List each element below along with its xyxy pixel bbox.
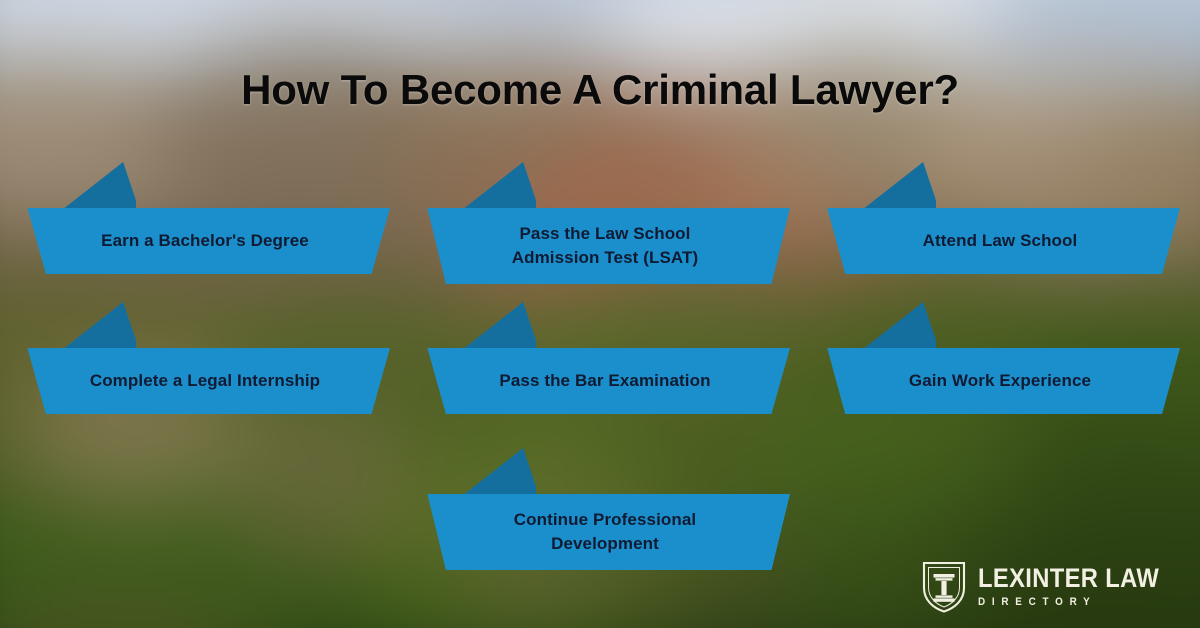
brand-logo[interactable]: LEXINTER LAW DIRECTORY <box>921 558 1184 614</box>
step-banner-2[interactable]: Pass the Law School Admission Test (LSAT… <box>420 162 790 274</box>
step-plate-7: Continue Professional Development <box>420 494 790 570</box>
step-banner-1[interactable]: Earn a Bachelor's Degree <box>20 162 390 274</box>
infographic-poster: How To Become A Criminal Lawyer? Earn a … <box>0 0 1200 628</box>
step-label-6: Gain Work Experience <box>893 369 1107 393</box>
step-plate-2: Pass the Law School Admission Test (LSAT… <box>420 208 790 284</box>
step-banner-6[interactable]: Gain Work Experience <box>820 302 1180 414</box>
step-banner-7[interactable]: Continue Professional Development <box>420 448 790 570</box>
step-plate-1: Earn a Bachelor's Degree <box>20 208 390 274</box>
step-plate-4: Complete a Legal Internship <box>20 348 390 414</box>
step-banner-4[interactable]: Complete a Legal Internship <box>20 302 390 414</box>
step-banner-5[interactable]: Pass the Bar Examination <box>420 302 790 414</box>
step-label-5: Pass the Bar Examination <box>483 369 726 393</box>
step-plate-6: Gain Work Experience <box>820 348 1180 414</box>
step-banner-3[interactable]: Attend Law School <box>820 162 1180 274</box>
step-label-2: Pass the Law School Admission Test (LSAT… <box>496 222 715 270</box>
step-label-4: Complete a Legal Internship <box>74 369 336 393</box>
step-plate-3: Attend Law School <box>820 208 1180 274</box>
step-label-3: Attend Law School <box>907 229 1094 253</box>
step-label-7: Continue Professional Development <box>498 508 713 556</box>
shield-column-icon <box>921 558 967 614</box>
step-plate-5: Pass the Bar Examination <box>420 348 790 414</box>
logo-subtitle-text: DIRECTORY <box>978 597 1163 608</box>
step-label-1: Earn a Bachelor's Degree <box>85 229 325 253</box>
page-title: How To Become A Criminal Lawyer? <box>0 66 1200 114</box>
logo-brand-text: LEXINTER LAW <box>978 565 1159 592</box>
logo-wordmark: LEXINTER LAW DIRECTORY <box>978 565 1184 608</box>
